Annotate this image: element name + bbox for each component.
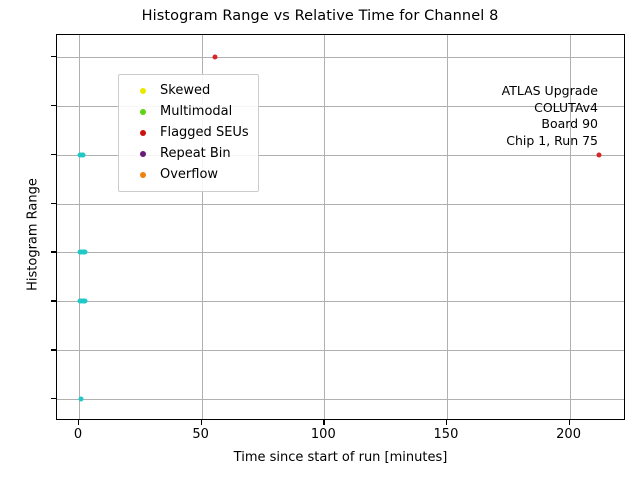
x-tick-label: 200	[539, 427, 599, 442]
page-title: Histogram Range vs Relative Time for Cha…	[0, 8, 640, 24]
gridline-vertical	[447, 35, 448, 419]
data-point	[213, 54, 218, 59]
x-tick-mark	[446, 420, 447, 425]
y-tick-mark	[51, 398, 56, 399]
data-point	[83, 250, 88, 255]
gridline-horizontal	[57, 301, 624, 302]
x-tick-label: 0	[48, 427, 108, 442]
legend-item-label: Skewed	[160, 83, 210, 98]
y-tick-mark	[51, 154, 56, 155]
y-axis-label: Histogram Range	[26, 42, 41, 428]
legend-item[interactable]: Skewed	[126, 80, 249, 101]
gridline-horizontal	[57, 399, 624, 400]
y-tick-mark	[51, 300, 56, 301]
gridline-vertical	[79, 35, 80, 419]
legend-item[interactable]: Multimodal	[126, 101, 249, 122]
annotation-line: COLUTAv4	[502, 100, 598, 117]
legend-item[interactable]: Overflow	[126, 164, 249, 185]
legend-marker-icon	[126, 88, 160, 94]
x-axis-label: Time since start of run [minutes]	[56, 450, 625, 465]
x-tick-mark	[569, 420, 570, 425]
x-tick-label: 150	[416, 427, 476, 442]
annotation-text: ATLAS UpgradeCOLUTAv4Board 90Chip 1, Run…	[502, 83, 598, 149]
data-point	[83, 299, 88, 304]
plot-area: SkewedMultimodalFlagged SEUsRepeat BinOv…	[56, 34, 625, 420]
gridline-horizontal	[57, 252, 624, 253]
legend-item[interactable]: Repeat Bin	[126, 143, 249, 164]
legend-marker-icon	[126, 151, 160, 157]
legend-marker-icon	[126, 109, 160, 115]
scatter-chart-figure: Histogram Range vs Relative Time for Cha…	[0, 0, 640, 480]
annotation-line: Chip 1, Run 75	[502, 133, 598, 150]
y-tick-mark	[51, 203, 56, 204]
data-point	[597, 152, 602, 157]
x-tick-label: 100	[293, 427, 353, 442]
annotation-line: Board 90	[502, 116, 598, 133]
legend: SkewedMultimodalFlagged SEUsRepeat BinOv…	[118, 74, 259, 192]
legend-item-label: Multimodal	[160, 104, 232, 119]
gridline-vertical	[324, 35, 325, 419]
y-tick-mark	[51, 56, 56, 57]
gridline-horizontal	[57, 57, 624, 58]
data-point	[80, 152, 85, 157]
y-tick-mark	[51, 105, 56, 106]
legend-item[interactable]: Flagged SEUs	[126, 122, 249, 143]
x-tick-label: 50	[171, 427, 231, 442]
legend-item-label: Overflow	[160, 167, 218, 182]
legend-item-label: Flagged SEUs	[160, 125, 249, 140]
y-tick-mark	[51, 251, 56, 252]
annotation-line: ATLAS Upgrade	[502, 83, 598, 100]
legend-marker-icon	[126, 172, 160, 178]
legend-item-label: Repeat Bin	[160, 146, 231, 161]
x-tick-mark	[78, 420, 79, 425]
x-tick-mark	[201, 420, 202, 425]
gridline-horizontal	[57, 350, 624, 351]
data-point	[78, 397, 83, 402]
x-tick-mark	[323, 420, 324, 425]
y-tick-mark	[51, 349, 56, 350]
gridline-horizontal	[57, 204, 624, 205]
legend-marker-icon	[126, 130, 160, 136]
